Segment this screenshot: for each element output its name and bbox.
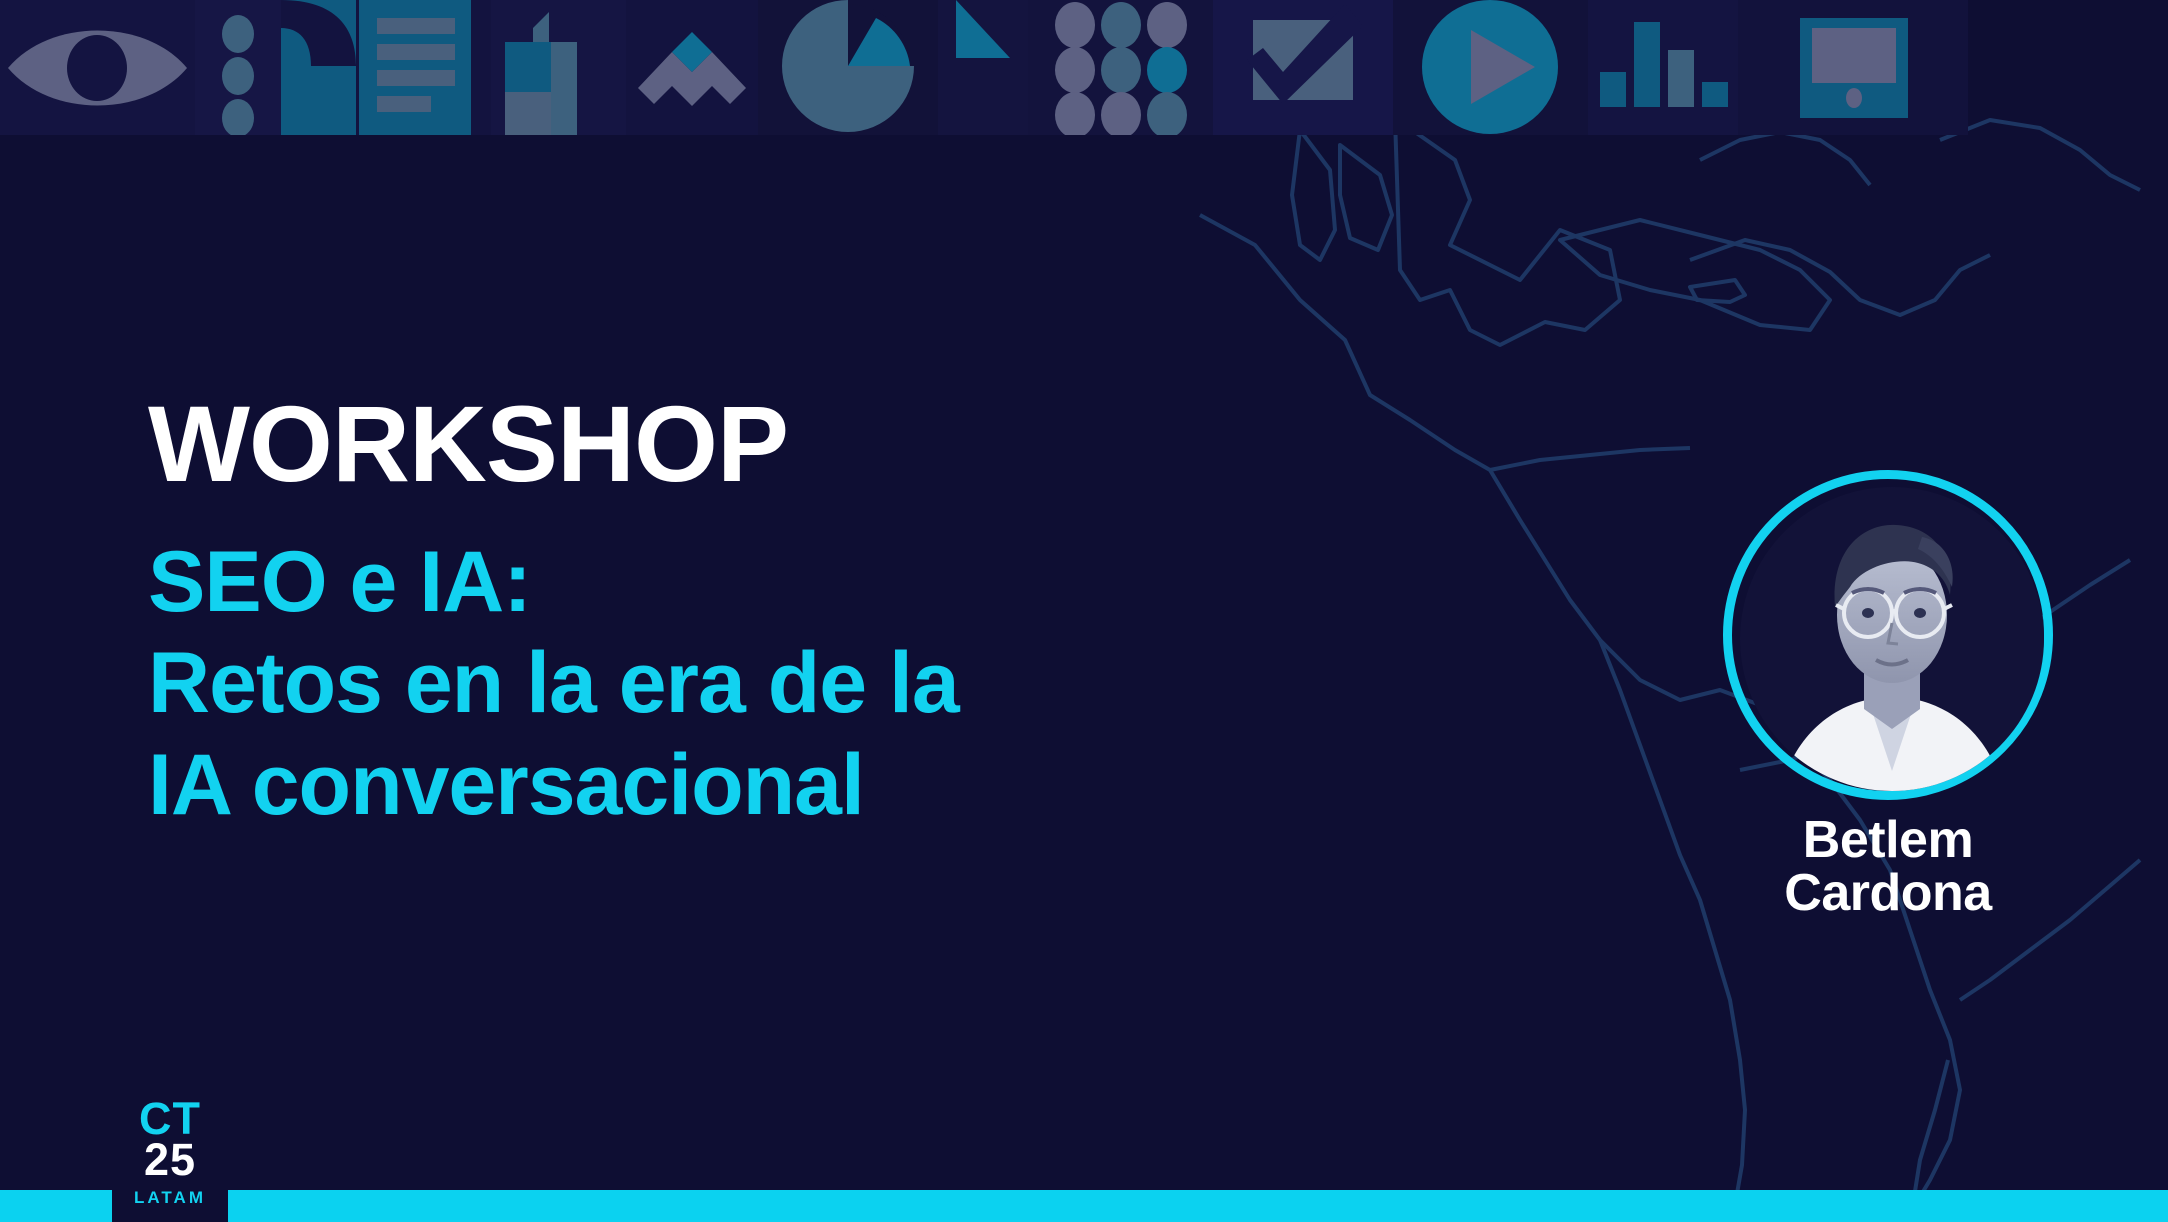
eye-icon xyxy=(0,0,195,135)
play-button-icon xyxy=(1393,0,1588,135)
speaker-name: Betlem Cardona xyxy=(1718,814,2058,920)
logo-region-text: LATAM xyxy=(134,1188,206,1208)
speaker-name-line-2: Cardona xyxy=(1718,867,2058,920)
logo-ct-text: CT xyxy=(139,1098,201,1139)
speaker-name-line-1: Betlem xyxy=(1718,814,2058,867)
event-logo: CT 25 LATAM xyxy=(112,1092,228,1222)
mountain-chart-icon xyxy=(626,0,758,135)
checkbox-icon xyxy=(1213,0,1393,135)
three-dots-icon xyxy=(195,0,281,135)
dot-grid-icon xyxy=(1028,0,1213,135)
workshop-subtitle: SEO e IA: Retos en la era de la IA conve… xyxy=(148,532,1448,836)
icon-banner xyxy=(0,0,2168,135)
bar-chart-icon xyxy=(1588,0,1738,135)
subtitle-line-2: Retos en la era de la xyxy=(148,633,1448,734)
avatar xyxy=(1723,470,2053,800)
event-slide: WORKSHOP SEO e IA: Retos en la era de la… xyxy=(0,0,2168,1222)
page-title: WORKSHOP xyxy=(148,390,1448,498)
logo-year-text: 25 xyxy=(144,1139,196,1182)
main-content: WORKSHOP SEO e IA: Retos en la era de la… xyxy=(148,390,1448,836)
triangle-icon xyxy=(938,0,1028,135)
bottom-accent-bar xyxy=(0,1190,2168,1222)
building-blocks-icon xyxy=(491,0,626,135)
subtitle-line-3: IA conversacional xyxy=(148,735,1448,836)
document-lines-icon xyxy=(281,0,491,135)
pie-chart-icon xyxy=(758,0,938,135)
subtitle-line-1: SEO e IA: xyxy=(148,532,1448,633)
avatar-photo xyxy=(1736,483,2040,787)
speaker-block: Betlem Cardona xyxy=(1718,470,2058,920)
tablet-icon xyxy=(1738,0,1968,135)
